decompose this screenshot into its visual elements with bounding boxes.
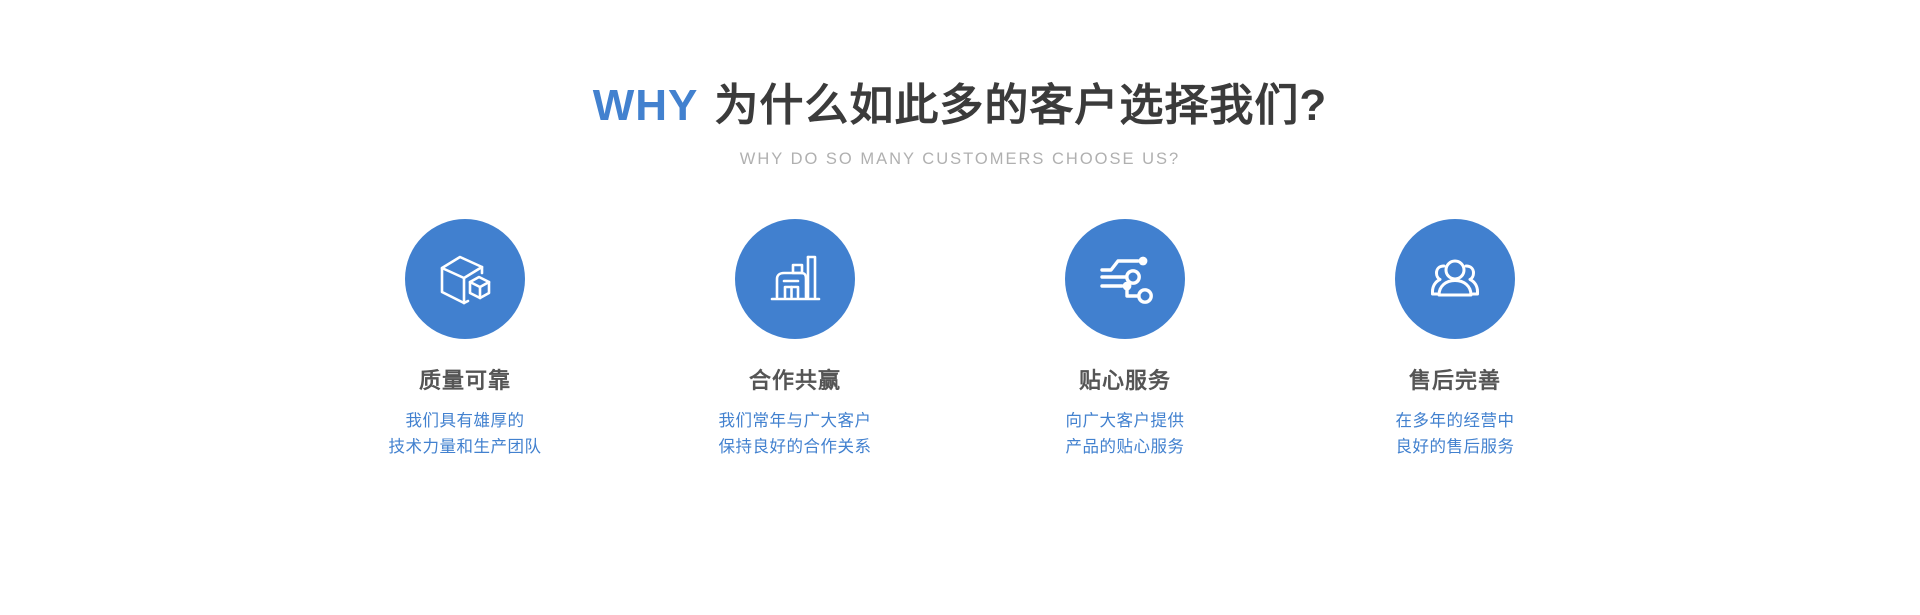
feature-card-service[interactable]: 贴心服务 向广大客户提供 产品的贴心服务 bbox=[960, 219, 1290, 461]
card-title: 贴心服务 bbox=[1079, 368, 1171, 394]
feature-cards-row: 质量可靠 我们具有雄厚的 技术力量和生产团队 bbox=[0, 219, 1920, 461]
card-description-line1: 向广大客户提供 bbox=[1066, 409, 1185, 435]
card-description-line2: 产品的贴心服务 bbox=[1066, 435, 1185, 461]
card-description-line1: 我们具有雄厚的 bbox=[389, 409, 542, 435]
feature-card-quality[interactable]: 质量可靠 我们具有雄厚的 技术力量和生产团队 bbox=[300, 219, 630, 461]
heading-block: WHY为什么如此多的客户选择我们? WHY DO SO MANY CUSTOME… bbox=[0, 84, 1920, 169]
title-chinese-text: 为什么如此多的客户选择我们? bbox=[714, 81, 1327, 130]
card-title: 合作共赢 bbox=[749, 368, 841, 394]
users-group-icon bbox=[1424, 248, 1486, 310]
icon-circle-cooperation bbox=[735, 219, 855, 339]
card-description: 向广大客户提供 产品的贴心服务 bbox=[1066, 409, 1185, 460]
card-description: 我们常年与广大客户 保持良好的合作关系 bbox=[719, 409, 872, 460]
card-description-line2: 技术力量和生产团队 bbox=[389, 435, 542, 461]
card-description-line2: 保持良好的合作关系 bbox=[719, 435, 872, 461]
icon-circle-service bbox=[1065, 219, 1185, 339]
page-title: WHY为什么如此多的客户选择我们? bbox=[0, 84, 1920, 128]
why-choose-us-section: WHY为什么如此多的客户选择我们? WHY DO SO MANY CUSTOME… bbox=[0, 0, 1920, 615]
card-description-line1: 在多年的经营中 bbox=[1396, 409, 1515, 435]
card-description: 我们具有雄厚的 技术力量和生产团队 bbox=[389, 409, 542, 460]
circuit-network-icon bbox=[1094, 248, 1156, 310]
card-title: 质量可靠 bbox=[419, 368, 511, 394]
card-description-line2: 良好的售后服务 bbox=[1396, 435, 1515, 461]
icon-circle-quality bbox=[405, 219, 525, 339]
card-title: 售后完善 bbox=[1409, 368, 1501, 394]
package-box-icon bbox=[434, 248, 496, 310]
feature-card-aftersales[interactable]: 售后完善 在多年的经营中 良好的售后服务 bbox=[1290, 219, 1620, 461]
feature-card-cooperation[interactable]: 合作共赢 我们常年与广大客户 保持良好的合作关系 bbox=[630, 219, 960, 461]
card-description-line1: 我们常年与广大客户 bbox=[719, 409, 872, 435]
card-description: 在多年的经营中 良好的售后服务 bbox=[1396, 409, 1515, 460]
factory-icon bbox=[765, 249, 825, 309]
title-why-label: WHY bbox=[593, 81, 699, 130]
page-subtitle: WHY DO SO MANY CUSTOMERS CHOOSE US? bbox=[0, 150, 1920, 169]
icon-circle-aftersales bbox=[1395, 219, 1515, 339]
